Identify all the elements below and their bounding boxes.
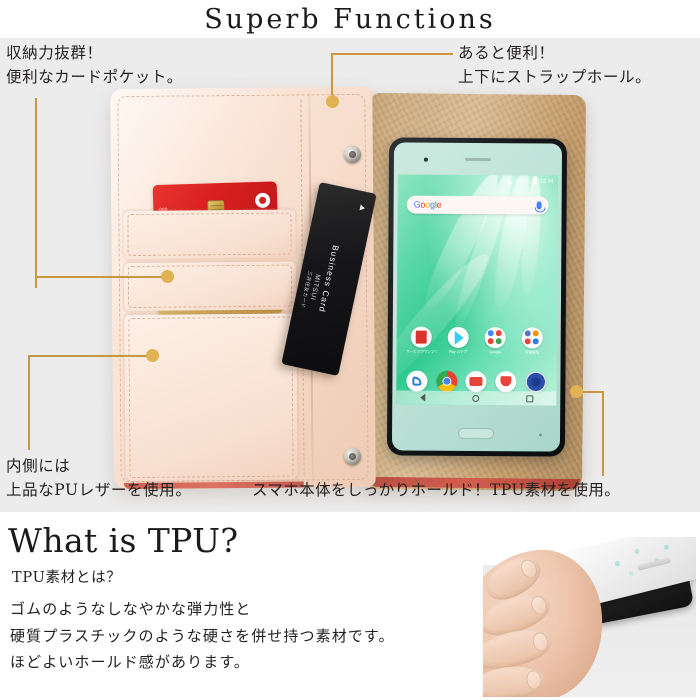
leader-dot-tpu xyxy=(570,385,583,398)
card-pocket-2 xyxy=(124,262,296,311)
play-store-app-icon[interactable] xyxy=(448,327,469,348)
app-cell[interactable]: Google xyxy=(480,327,510,355)
signal-icon xyxy=(508,178,513,184)
fingernail xyxy=(526,670,543,690)
annotation-line: 内側には xyxy=(6,454,191,478)
battery-percent-label: 100% xyxy=(516,178,530,184)
leader-dot-pu-leather xyxy=(146,349,159,362)
infographic-page: Superb Functions 100% xyxy=(0,0,700,700)
annotation-line: 収納力抜群！ xyxy=(6,41,183,65)
leader-dot-strap-hole xyxy=(326,95,339,108)
leader-line-top-left-v xyxy=(35,98,37,288)
tpu-body-line: ゴムのようなしなやかな弾力性と xyxy=(10,596,395,623)
app-label: 音楽再生 xyxy=(517,350,547,355)
fingernail xyxy=(529,594,550,617)
earpiece-speaker xyxy=(465,158,491,161)
app-label: サービスラウンジアプリ xyxy=(406,349,436,354)
phone-nav-bar xyxy=(396,390,556,405)
app-cell[interactable]: Play ストア xyxy=(443,327,473,355)
leader-line-top-right-h xyxy=(331,53,453,55)
messages-app-icon[interactable] xyxy=(466,371,487,392)
pocket-stitching xyxy=(128,265,292,308)
phone-screen: 100% 12:34 Google サービスラウンジアプリ xyxy=(396,174,558,405)
annotation-bottom-left: 内側には 上品なPUレザーを使用。 xyxy=(6,454,191,502)
phone-app-icon[interactable] xyxy=(407,371,428,392)
card-brand-logo xyxy=(255,193,270,208)
annotation-top-left: 収納力抜群！ 便利なカードポケット。 xyxy=(6,41,183,89)
page-title: Superb Functions xyxy=(0,4,700,35)
phone-dock xyxy=(402,370,550,392)
tpu-body-text: ゴムのようなしなやかな弾力性と 硬質プラスチックのような硬さを併せ持つ素材です。… xyxy=(10,596,395,676)
annotation-line: 上下にストラップホール。 xyxy=(458,65,651,89)
app-grid-row: サービスラウンジアプリ Play ストア xyxy=(403,326,551,355)
business-card-label: Business Card xyxy=(317,244,341,313)
fingernail xyxy=(518,557,540,581)
app-cell[interactable]: サービスラウンジアプリ xyxy=(406,327,436,355)
smartphone: 100% 12:34 Google サービスラウンジアプリ xyxy=(392,142,562,451)
recents-icon[interactable] xyxy=(526,395,533,402)
annotation-line: あると便利！ xyxy=(458,41,651,65)
tpu-phone-holder: 100% 12:34 Google サービスラウンジアプリ xyxy=(387,137,567,456)
microphone-icon[interactable] xyxy=(537,201,542,209)
leader-dot-card-pocket xyxy=(161,270,174,283)
annotation-line: 便利なカードポケット。 xyxy=(6,65,183,89)
tpu-body-line: 硬質プラスチックのような硬さを併せ持つ素材です。 xyxy=(10,623,395,650)
battery-icon xyxy=(533,178,537,185)
product-photo: 100% 12:34 Google サービスラウンジアプリ xyxy=(0,38,700,512)
tpu-body-line: ほどよいホールド感があります。 xyxy=(10,649,395,676)
strap-hole-top xyxy=(344,146,361,163)
pocket-stitching xyxy=(127,213,291,256)
leader-line-bottom-left-v xyxy=(28,355,30,450)
card-triangle-icon xyxy=(359,204,365,211)
google-folder-icon[interactable] xyxy=(485,327,506,348)
app-cell[interactable]: 音楽再生 xyxy=(517,327,547,355)
app-label: Google xyxy=(480,350,510,354)
home-icon[interactable] xyxy=(472,394,479,401)
fingernail xyxy=(531,631,550,653)
card-pocket-1 xyxy=(123,210,295,259)
app-label: Play ストア xyxy=(443,349,473,354)
leader-line-top-right-v xyxy=(331,53,333,99)
google-search-bar[interactable]: Google xyxy=(407,196,549,215)
tpu-subheading: TPU素材とは？ xyxy=(12,566,122,587)
sensor-dot-icon xyxy=(539,433,542,436)
leader-line-bottom-left-h xyxy=(28,355,150,357)
google-logo: Google xyxy=(414,200,442,210)
leader-line-bottom-right-v xyxy=(602,391,604,476)
phone-status-bar: 100% 12:34 xyxy=(398,174,558,186)
front-camera-icon xyxy=(424,158,428,162)
music-folder-icon[interactable] xyxy=(522,327,543,348)
clock-label: 12:34 xyxy=(540,178,554,184)
annotation-line: スマホ本体をしっかりホールド！TPU素材を使用。 xyxy=(252,478,620,502)
annotation-line: 上品なPUレザーを使用。 xyxy=(6,478,191,502)
tpu-heading: What is TPU? xyxy=(8,521,239,560)
camera-app-icon[interactable] xyxy=(525,371,546,392)
chrome-app-icon[interactable] xyxy=(436,371,457,392)
annotation-bottom-right: スマホ本体をしっかりホールド！TPU素材を使用。 xyxy=(252,478,620,502)
annotation-top-right: あると便利！ 上下にストラップホール。 xyxy=(458,41,651,89)
leader-line-top-left-h xyxy=(35,276,165,278)
tpu-demo-photo xyxy=(483,537,696,697)
back-icon[interactable] xyxy=(420,394,425,402)
strap-hole-bottom xyxy=(344,448,361,465)
service-lounge-app-icon[interactable] xyxy=(411,327,432,348)
home-button[interactable] xyxy=(458,428,494,439)
bookmark-app-icon[interactable] xyxy=(495,371,516,392)
